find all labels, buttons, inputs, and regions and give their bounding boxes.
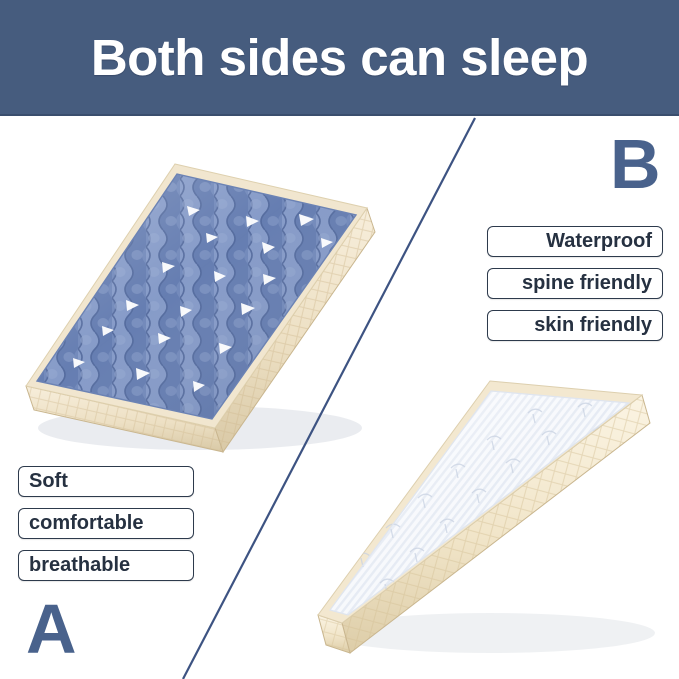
infographic-page: Both sides can sleep <box>0 0 679 679</box>
feature-chip-comfortable: comfortable <box>18 508 194 539</box>
section-letter-a: A <box>26 594 77 664</box>
feature-chip-skin-friendly: skin friendly <box>487 310 663 341</box>
white-striped-mattress-side <box>290 365 679 665</box>
feature-chip-waterproof: Waterproof <box>487 226 663 257</box>
feature-chip-breathable: breathable <box>18 550 194 581</box>
section-letter-b: B <box>610 129 661 199</box>
feature-chip-spine-friendly: spine friendly <box>487 268 663 299</box>
page-title: Both sides can sleep <box>0 0 679 114</box>
feature-chip-soft: Soft <box>18 466 194 497</box>
